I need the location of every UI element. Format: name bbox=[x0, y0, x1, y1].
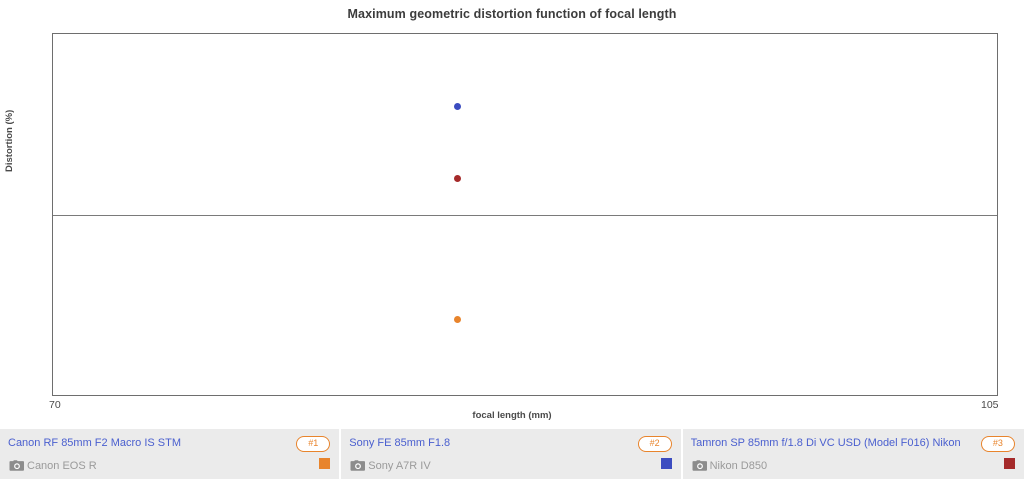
data-point[interactable] bbox=[454, 316, 461, 323]
series-color-swatch bbox=[319, 458, 330, 469]
legend-panel: Canon RF 85mm F2 Macro IS STM #1 Canon E… bbox=[0, 428, 1024, 479]
legend-camera-name: Sony A7R IV bbox=[368, 460, 430, 472]
y-axis-title: Distortion (%) bbox=[4, 110, 15, 172]
rank-badge[interactable]: #1 bbox=[296, 436, 330, 452]
camera-icon bbox=[8, 459, 25, 472]
legend-item[interactable]: Tamron SP 85mm f/1.8 Di VC USD (Model F0… bbox=[683, 429, 1024, 479]
legend-camera-row: Nikon D850 bbox=[691, 459, 1014, 472]
series-color-swatch bbox=[1004, 458, 1015, 469]
chart-title: Maximum geometric distortion function of… bbox=[0, 7, 1024, 21]
legend-camera-row: Sony A7R IV bbox=[349, 459, 670, 472]
series-color-swatch bbox=[661, 458, 672, 469]
legend-lens-name[interactable]: Sony FE 85mm F1.8 bbox=[349, 436, 670, 450]
data-point[interactable] bbox=[454, 103, 461, 110]
legend-camera-name: Nikon D850 bbox=[710, 460, 767, 472]
x-axis-title: focal length (mm) bbox=[0, 410, 1024, 421]
camera-icon bbox=[691, 459, 708, 472]
legend-lens-name[interactable]: Tamron SP 85mm f/1.8 Di VC USD (Model F0… bbox=[691, 436, 1014, 450]
rank-badge[interactable]: #2 bbox=[638, 436, 672, 452]
legend-lens-name[interactable]: Canon RF 85mm F2 Macro IS STM bbox=[8, 436, 329, 450]
data-point[interactable] bbox=[454, 175, 461, 182]
rank-badge[interactable]: #3 bbox=[981, 436, 1015, 452]
legend-camera-row: Canon EOS R bbox=[8, 459, 329, 472]
legend-item[interactable]: Canon RF 85mm F2 Macro IS STM #1 Canon E… bbox=[0, 429, 341, 479]
plot-area bbox=[52, 33, 998, 396]
legend-item[interactable]: Sony FE 85mm F1.8 #2 Sony A7R IV bbox=[341, 429, 682, 479]
zero-reference-line bbox=[53, 215, 997, 216]
camera-icon bbox=[349, 459, 366, 472]
distortion-chart: Maximum geometric distortion function of… bbox=[0, 0, 1024, 424]
legend-camera-name: Canon EOS R bbox=[27, 460, 97, 472]
